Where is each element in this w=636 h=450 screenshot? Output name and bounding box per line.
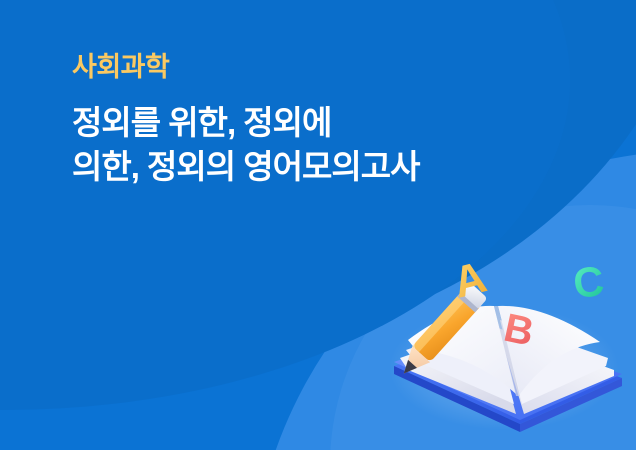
page-title: 정외를 위한, 정외에 의한, 정외의 영어모의고사 bbox=[72, 101, 572, 188]
book-pencil-abc-illustration: A B C bbox=[386, 258, 636, 450]
banner-text-block: 사회과학 정외를 위한, 정외에 의한, 정외의 영어모의고사 bbox=[72, 52, 572, 188]
page-title-line-1: 정외를 위한, 정외에 bbox=[72, 101, 572, 145]
letter-c-icon: C bbox=[571, 258, 606, 307]
course-banner: 사회과학 정외를 위한, 정외에 의한, 정외의 영어모의고사 bbox=[0, 0, 636, 450]
page-title-line-2: 의한, 정외의 영어모의고사 bbox=[72, 145, 572, 189]
category-label: 사회과학 bbox=[72, 52, 572, 83]
